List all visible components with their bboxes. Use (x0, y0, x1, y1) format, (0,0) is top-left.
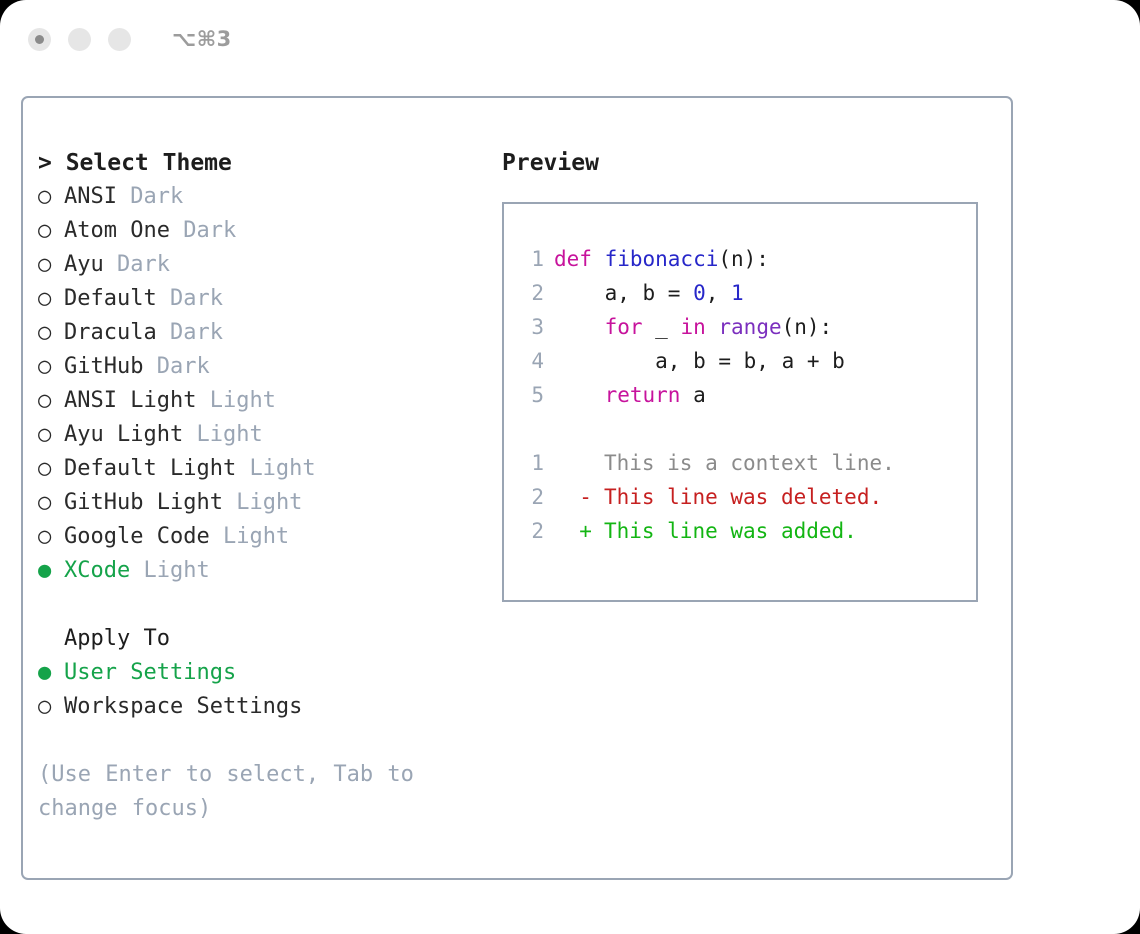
apply-to-option[interactable]: ○Workspace Settings (38, 690, 488, 724)
theme-option-tag: Light (236, 490, 302, 515)
radio-unselected-icon: ○ (38, 316, 64, 350)
theme-option-separator (143, 354, 156, 379)
panel-columns: > Select Theme ○ANSI Dark○Atom One Dark○… (23, 98, 1011, 878)
theme-option-tag: Dark (157, 354, 210, 379)
theme-option-separator (130, 558, 143, 583)
code-line: 2 a, b = 0, 1 (516, 276, 976, 310)
theme-option[interactable]: ○ANSI Dark (38, 180, 488, 214)
radio-unselected-icon: ○ (38, 248, 64, 282)
radio-unselected-icon: ○ (38, 180, 64, 214)
code-token-call: range (718, 315, 781, 339)
theme-option-label: XCode (64, 558, 130, 583)
preview-heading: Preview (502, 146, 992, 180)
theme-option-tag: Light (143, 558, 209, 583)
theme-option-separator (157, 320, 170, 345)
diff-marker-ctx (579, 446, 591, 480)
theme-option[interactable]: ○Default Light Light (38, 452, 488, 486)
diff-text-del: This line was deleted. (604, 485, 882, 509)
diff-sample: 1 This is a context line.2 - This line w… (516, 446, 976, 548)
traffic-light-2[interactable] (68, 28, 91, 51)
theme-option-label: Default (64, 286, 157, 311)
code-token-plain: , (706, 281, 731, 305)
traffic-light-3[interactable] (108, 28, 131, 51)
code-token-kw: for (605, 315, 656, 339)
theme-option-separator (210, 524, 223, 549)
code-diff-gap (516, 412, 976, 446)
theme-option-label: Ayu Light (64, 422, 183, 447)
radio-unselected-icon: ○ (38, 520, 64, 554)
radio-selected-icon: ● (38, 656, 64, 690)
code-line-number: 1 (516, 242, 544, 276)
theme-option-label: Ayu (64, 252, 104, 277)
code-token-kw: in (680, 315, 718, 339)
theme-list[interactable]: ○ANSI Dark○Atom One Dark○Ayu Dark○Defaul… (38, 180, 488, 588)
code-line: 1def fibonacci(n): (516, 242, 976, 276)
diff-line: 2 + This line was added. (516, 514, 976, 548)
titlebar: ⌥⌘3 (0, 0, 1140, 78)
preview-column: Preview 1def fibonacci(n):2 a, b = 0, 13… (502, 146, 992, 602)
theme-option-separator (117, 184, 130, 209)
theme-option[interactable]: ○Google Code Light (38, 520, 488, 554)
code-token-kw: return (605, 383, 694, 407)
theme-option-separator (183, 422, 196, 447)
code-line-number: 3 (516, 310, 544, 344)
radio-selected-icon: ● (38, 554, 64, 588)
theme-option-separator (236, 456, 249, 481)
theme-option[interactable]: ○Ayu Dark (38, 248, 488, 282)
diff-space (591, 485, 604, 509)
code-token-plain: (n): (718, 247, 769, 271)
apply-to-option[interactable]: ●User Settings (38, 656, 488, 690)
code-token-num: 1 (731, 281, 744, 305)
list-spacer (38, 588, 488, 622)
radio-unselected-icon: ○ (38, 418, 64, 452)
diff-text-add: This line was added. (604, 519, 857, 543)
theme-option[interactable]: ○Ayu Light Light (38, 418, 488, 452)
theme-option-separator (223, 490, 236, 515)
diff-marker-del: - (579, 480, 591, 514)
diff-line-number: 2 (516, 514, 544, 548)
diff-marker-add: + (579, 514, 591, 548)
theme-option-tag: Light (223, 524, 289, 549)
theme-option-tag: Light (210, 388, 276, 413)
code-token-plain: (n): (782, 315, 833, 339)
radio-unselected-icon: ○ (38, 690, 64, 724)
theme-option-tag: Dark (183, 218, 236, 243)
code-token-num: 0 (693, 281, 706, 305)
theme-option[interactable]: ○GitHub Dark (38, 350, 488, 384)
code-line-number: 4 (516, 344, 544, 378)
radio-unselected-icon: ○ (38, 282, 64, 316)
theme-option-tag: Light (249, 456, 315, 481)
code-sample: 1def fibonacci(n):2 a, b = 0, 13 for _ i… (516, 242, 976, 412)
theme-option[interactable]: ○Atom One Dark (38, 214, 488, 248)
diff-line: 2 - This line was deleted. (516, 480, 976, 514)
keyboard-shortcut-label: ⌥⌘3 (172, 27, 232, 51)
code-token-plain (554, 383, 605, 407)
apply-to-option-label: Workspace Settings (64, 694, 302, 719)
diff-space (591, 519, 604, 543)
code-line-number: 2 (516, 276, 544, 310)
traffic-light-active[interactable] (28, 28, 51, 51)
code-token-kw: def (554, 247, 605, 271)
diff-space (591, 451, 604, 475)
theme-option-separator (157, 286, 170, 311)
theme-option-separator (104, 252, 117, 277)
theme-option-tag: Dark (117, 252, 170, 277)
theme-option[interactable]: ○ANSI Light Light (38, 384, 488, 418)
code-line: 3 for _ in range(n): (516, 310, 976, 344)
radio-unselected-icon: ○ (38, 384, 64, 418)
theme-option-label: Google Code (64, 524, 210, 549)
radio-unselected-icon: ○ (38, 350, 64, 384)
theme-option-label: Default Light (64, 456, 236, 481)
theme-option-label: ANSI (64, 184, 117, 209)
preview-box: 1def fibonacci(n):2 a, b = 0, 13 for _ i… (502, 202, 978, 602)
code-token-plain: _ (655, 315, 680, 339)
apply-to-heading-label: Apply To (64, 626, 170, 651)
theme-option-tag: Light (196, 422, 262, 447)
theme-option-label: GitHub (64, 354, 143, 379)
code-token-plain: a (693, 383, 706, 407)
code-line: 4 a, b = b, a + b (516, 344, 976, 378)
code-token-fn: fibonacci (605, 247, 719, 271)
select-theme-heading: > Select Theme (38, 146, 488, 180)
theme-option-label: Atom One (64, 218, 170, 243)
theme-option[interactable]: ●XCode Light (38, 554, 488, 588)
theme-option-separator (170, 218, 183, 243)
code-token-plain: a, b = (554, 281, 693, 305)
apply-to-list[interactable]: ●User Settings○Workspace Settings (38, 656, 488, 724)
theme-option[interactable]: ○Default Dark (38, 282, 488, 316)
theme-selection-column: > Select Theme ○ANSI Dark○Atom One Dark○… (38, 146, 488, 826)
theme-option-label: ANSI Light (64, 388, 196, 413)
app-window: ⌥⌘3 > Select Theme ○ANSI Dark○Atom One D… (0, 0, 1140, 934)
code-line: 5 return a (516, 378, 976, 412)
diff-text-ctx: This is a context line. (604, 451, 895, 475)
diff-line-number: 1 (516, 446, 544, 480)
theme-option-tag: Dark (170, 286, 223, 311)
code-line-number: 5 (516, 378, 544, 412)
keyboard-hint-text: (Use Enter to select, Tab to change focu… (38, 758, 448, 826)
main-panel: > Select Theme ○ANSI Dark○Atom One Dark○… (21, 96, 1013, 880)
theme-option-label: GitHub Light (64, 490, 223, 515)
diff-indent (554, 519, 579, 543)
diff-line-number: 2 (516, 480, 544, 514)
radio-unselected-icon: ○ (38, 486, 64, 520)
diff-line: 1 This is a context line. (516, 446, 976, 480)
theme-option-tag: Dark (130, 184, 183, 209)
traffic-light-active-dot (35, 35, 44, 44)
code-token-plain: a, b = b, a + b (554, 349, 845, 373)
theme-option-tag: Dark (170, 320, 223, 345)
diff-indent (554, 451, 579, 475)
diff-indent (554, 485, 579, 509)
theme-option[interactable]: ○Dracula Dark (38, 316, 488, 350)
apply-to-option-label: User Settings (64, 660, 236, 685)
apply-to-heading-marker: ● (38, 622, 64, 656)
code-token-plain (554, 315, 605, 339)
theme-option-separator (196, 388, 209, 413)
radio-unselected-icon: ○ (38, 452, 64, 486)
theme-option-label: Dracula (64, 320, 157, 345)
apply-to-heading: ●Apply To (38, 622, 488, 656)
theme-option[interactable]: ○GitHub Light Light (38, 486, 488, 520)
radio-unselected-icon: ○ (38, 214, 64, 248)
